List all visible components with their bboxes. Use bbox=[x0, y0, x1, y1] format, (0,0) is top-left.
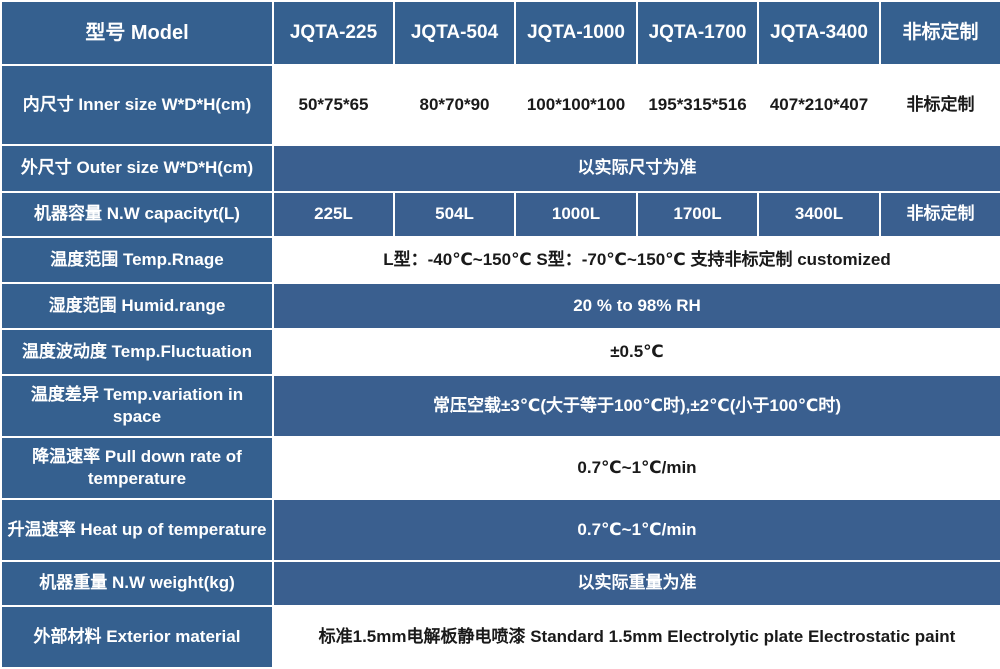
table-row-exterior-material: 外部材料 Exterior material 标准1.5mm电解板静电喷漆 St… bbox=[2, 607, 1000, 667]
capacity-value-1: 504L bbox=[395, 193, 514, 236]
table-row-temp-variation: 温度差异 Temp.variation in space 常压空载±3℃(大于等… bbox=[2, 376, 1000, 436]
row-label-heat-up-rate: 升温速率 Heat up of temperature bbox=[2, 500, 272, 560]
humidity-range-value: 20 % to 98% RH bbox=[274, 284, 1000, 328]
capacity-value-2: 1000L bbox=[516, 193, 636, 236]
row-label-humidity-range: 湿度范围 Humid.range bbox=[2, 284, 272, 328]
inner-size-value-3: 195*315*516 bbox=[638, 66, 757, 144]
table-row-outer-size: 外尺寸 Outer size W*D*H(cm) 以实际尺寸为准 bbox=[2, 146, 1000, 191]
model-header-3: JQTA-1700 bbox=[638, 2, 757, 64]
outer-size-value: 以实际尺寸为准 bbox=[274, 146, 1000, 191]
row-label-capacity: 机器容量 N.W capacityt(L) bbox=[2, 193, 272, 236]
row-label-temp-fluctuation: 温度波动度 Temp.Fluctuation bbox=[2, 330, 272, 374]
exterior-material-value: 标准1.5mm电解板静电喷漆 Standard 1.5mm Electrolyt… bbox=[274, 607, 1000, 667]
temp-range-value: L型：-40℃~150℃ S型：-70℃~150℃ 支持非标定制 customi… bbox=[274, 238, 1000, 282]
header-label-cell: 型号 Model bbox=[2, 2, 272, 64]
weight-value: 以实际重量为准 bbox=[274, 562, 1000, 605]
table-body: 型号 Model JQTA-225 JQTA-504 JQTA-1000 JQT… bbox=[2, 2, 1000, 667]
model-header-4: JQTA-3400 bbox=[759, 2, 879, 64]
specification-table: 型号 Model JQTA-225 JQTA-504 JQTA-1000 JQT… bbox=[0, 0, 1000, 669]
temp-fluctuation-value: ±0.5℃ bbox=[274, 330, 1000, 374]
table-row-humidity-range: 湿度范围 Humid.range 20 % to 98% RH bbox=[2, 284, 1000, 328]
table-row-temp-fluctuation: 温度波动度 Temp.Fluctuation ±0.5℃ bbox=[2, 330, 1000, 374]
row-label-exterior-material: 外部材料 Exterior material bbox=[2, 607, 272, 667]
table-header-row: 型号 Model JQTA-225 JQTA-504 JQTA-1000 JQT… bbox=[2, 2, 1000, 64]
inner-size-value-1: 80*70*90 bbox=[395, 66, 514, 144]
model-header-5: 非标定制 bbox=[881, 2, 1000, 64]
row-label-pull-down-rate: 降温速率 Pull down rate of temperature bbox=[2, 438, 272, 498]
model-header-0: JQTA-225 bbox=[274, 2, 393, 64]
row-label-inner-size: 内尺寸 Inner size W*D*H(cm) bbox=[2, 66, 272, 144]
temp-variation-value: 常压空载±3℃(大于等于100℃时),±2℃(小于100℃时) bbox=[274, 376, 1000, 436]
pull-down-rate-value: 0.7℃~1℃/min bbox=[274, 438, 1000, 498]
row-label-weight: 机器重量 N.W weight(kg) bbox=[2, 562, 272, 605]
inner-size-value-4: 407*210*407 bbox=[759, 66, 879, 144]
model-header-2: JQTA-1000 bbox=[516, 2, 636, 64]
capacity-value-3: 1700L bbox=[638, 193, 757, 236]
row-label-temp-range: 温度范围 Temp.Rnage bbox=[2, 238, 272, 282]
capacity-value-0: 225L bbox=[274, 193, 393, 236]
inner-size-value-5: 非标定制 bbox=[881, 66, 1000, 144]
row-label-outer-size: 外尺寸 Outer size W*D*H(cm) bbox=[2, 146, 272, 191]
table-row-heat-up-rate: 升温速率 Heat up of temperature 0.7℃~1℃/min bbox=[2, 500, 1000, 560]
row-label-temp-variation: 温度差异 Temp.variation in space bbox=[2, 376, 272, 436]
inner-size-value-2: 100*100*100 bbox=[516, 66, 636, 144]
table-row-pull-down-rate: 降温速率 Pull down rate of temperature 0.7℃~… bbox=[2, 438, 1000, 498]
table-row-temp-range: 温度范围 Temp.Rnage L型：-40℃~150℃ S型：-70℃~150… bbox=[2, 238, 1000, 282]
capacity-value-5: 非标定制 bbox=[881, 193, 1000, 236]
table-row-inner-size: 内尺寸 Inner size W*D*H(cm) 50*75*65 80*70*… bbox=[2, 66, 1000, 144]
model-header-1: JQTA-504 bbox=[395, 2, 514, 64]
inner-size-value-0: 50*75*65 bbox=[274, 66, 393, 144]
table-row-weight: 机器重量 N.W weight(kg) 以实际重量为准 bbox=[2, 562, 1000, 605]
table-row-capacity: 机器容量 N.W capacityt(L) 225L 504L 1000L 17… bbox=[2, 193, 1000, 236]
heat-up-rate-value: 0.7℃~1℃/min bbox=[274, 500, 1000, 560]
capacity-value-4: 3400L bbox=[759, 193, 879, 236]
